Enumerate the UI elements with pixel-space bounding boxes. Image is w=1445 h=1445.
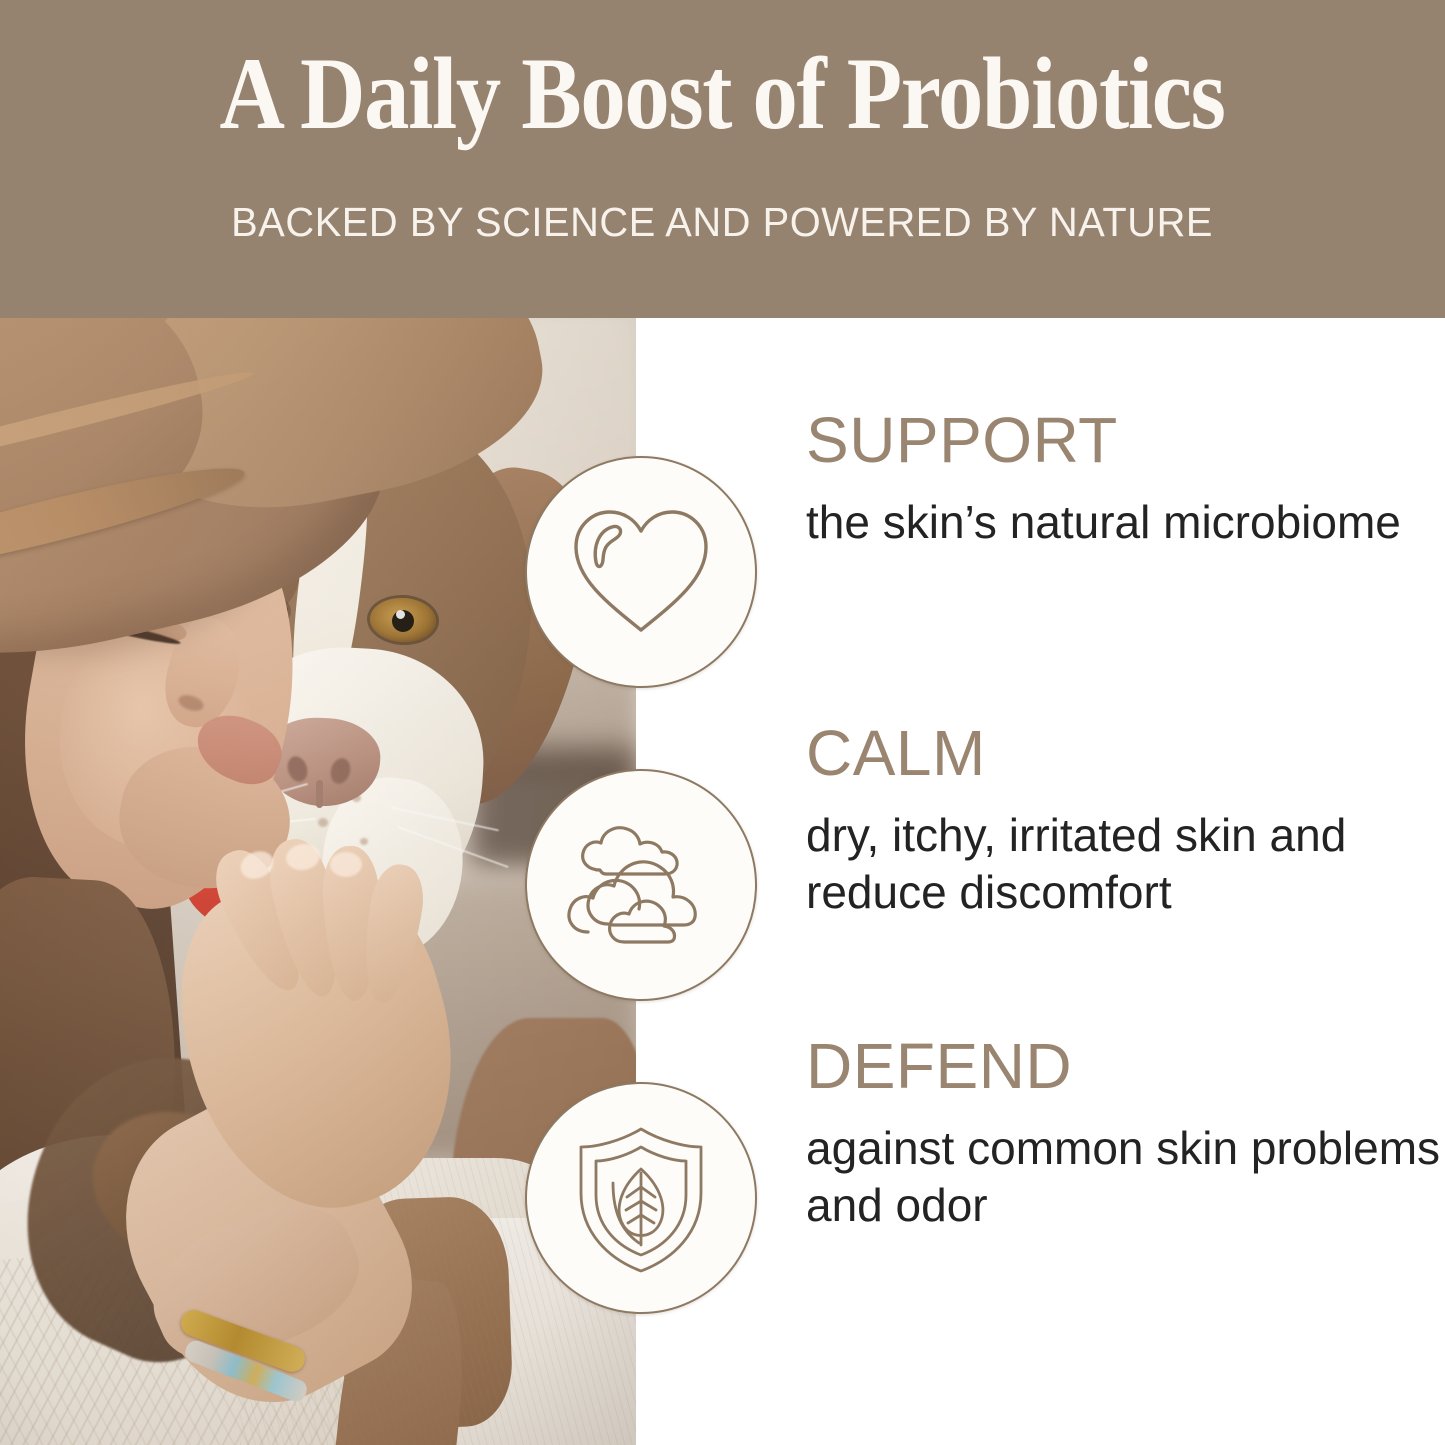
heart-icon (566, 502, 716, 642)
benefit-description-support: the skin’s natural microbiome (806, 494, 1401, 551)
benefit-row-support: SUPPORT the skin’s natural microbiome (636, 408, 1445, 648)
benefit-icon-circle-support (525, 456, 757, 688)
benefit-heading-support: SUPPORT (806, 408, 1401, 472)
benefit-heading-calm: CALM (806, 721, 1445, 785)
page-title: A Daily Boost of Probiotics (220, 42, 1225, 147)
benefit-description-calm: dry, itchy, irritated skin and reduce di… (806, 807, 1445, 920)
benefit-icon-circle-defend (525, 1082, 757, 1314)
benefit-text-calm: CALM dry, itchy, irritated skin and redu… (806, 721, 1445, 920)
benefit-heading-defend: DEFEND (806, 1034, 1445, 1098)
infographic-page: A Daily Boost of Probiotics BACKED BY SC… (0, 0, 1445, 1445)
benefit-row-calm: CALM dry, itchy, irritated skin and redu… (636, 721, 1445, 961)
benefit-text-support: SUPPORT the skin’s natural microbiome (806, 408, 1401, 551)
benefits-panel: SUPPORT the skin’s natural microbiome CA… (636, 318, 1445, 1445)
benefit-text-defend: DEFEND against common skin problems and … (806, 1034, 1445, 1233)
benefit-icon-circle-calm (525, 769, 757, 1001)
clouds-icon (564, 820, 719, 950)
shield-leaf-icon (569, 1121, 714, 1276)
benefit-row-defend: DEFEND against common skin problems and … (636, 1034, 1445, 1274)
benefit-description-defend: against common skin problems and odor (806, 1120, 1445, 1233)
header-band: A Daily Boost of Probiotics BACKED BY SC… (0, 0, 1445, 318)
page-subtitle: BACKED BY SCIENCE AND POWERED BY NATURE (232, 199, 1214, 246)
